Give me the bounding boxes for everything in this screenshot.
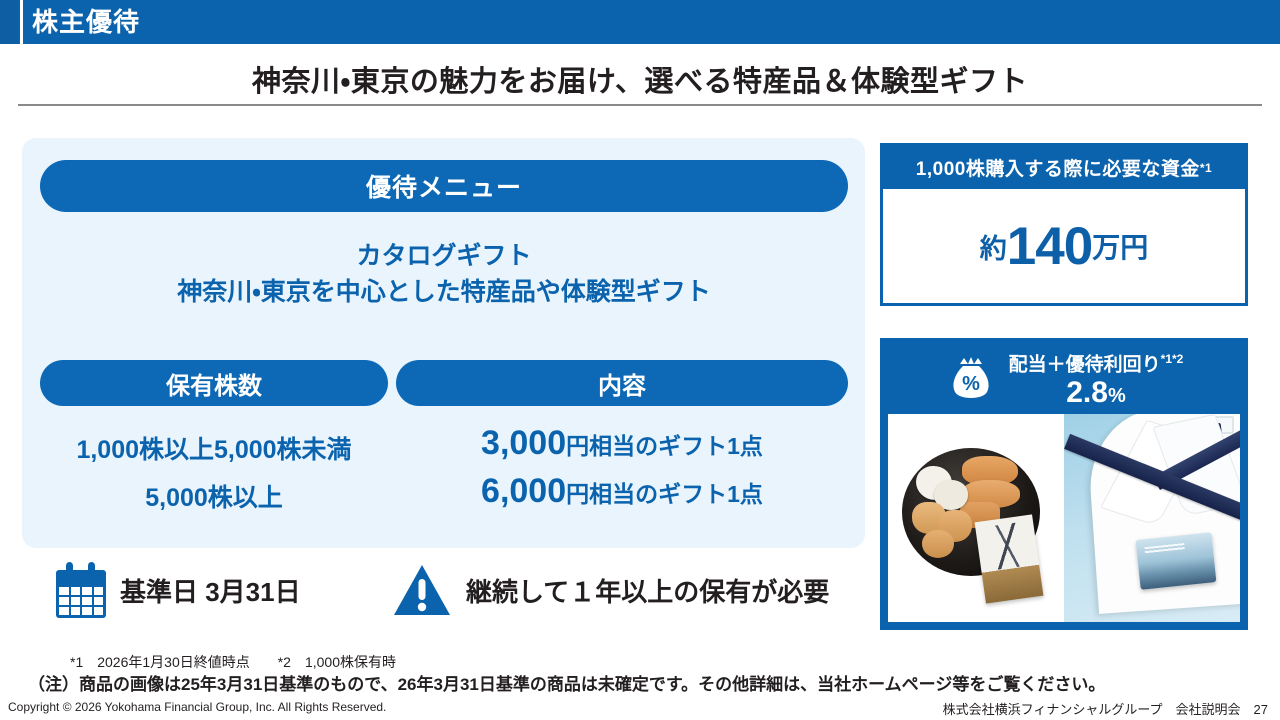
- required-funds-heading-label: 1,000株購入する際に必要な資金: [916, 154, 1200, 181]
- table-row: 1,000株以上5,000株未満: [40, 430, 388, 466]
- svg-text:%: %: [962, 373, 980, 395]
- table-row: 5,000株以上: [40, 478, 388, 514]
- catalog-line-1: カタログギフト: [40, 238, 848, 274]
- section-label: 株主優待: [32, 5, 140, 39]
- table-header-shares-label: 保有株数: [166, 366, 262, 401]
- table-header-content: 内容: [396, 360, 848, 406]
- table-header-content-label: 内容: [598, 366, 646, 401]
- dividend-yield-value: 2.8: [1066, 376, 1108, 409]
- gift-photos: [888, 414, 1240, 622]
- copyright-text: Copyright © 2026 Yokohama Financial Grou…: [8, 700, 386, 714]
- dividend-yield-header: % 配当＋優待利回り*1*2 2.8%: [888, 346, 1240, 414]
- dividend-yield-texts: 配当＋優待利回り*1*2 2.8%: [1009, 348, 1184, 411]
- calendar-icon: [56, 562, 106, 618]
- required-funds-prefix: 約: [980, 227, 1007, 266]
- header-bar: [0, 0, 1280, 44]
- title-divider: [18, 104, 1262, 106]
- benefit-menu-header-label: 優待メニュー: [366, 168, 522, 204]
- footnote-marks: *1 2026年1月30日終値時点 *2 1,000株保有時: [70, 652, 396, 672]
- required-funds-heading: 1,000株購入する際に必要な資金*1: [883, 146, 1245, 189]
- disclaimer-note: （注）商品の画像は25年3月31日基準のもので、26年3月31日基準の商品は未確…: [28, 670, 1105, 695]
- dividend-yield-unit: %: [1108, 385, 1126, 407]
- shares-value-row2: 5,000株以上: [145, 484, 283, 512]
- cracker: [922, 530, 954, 558]
- table-row: 3,000円相当のギフト1点: [396, 424, 848, 463]
- benefit-menu-header-pill: 優待メニュー: [40, 160, 848, 212]
- gift-card: [1136, 532, 1217, 590]
- header-accent-block: [0, 0, 18, 44]
- package-calligraphy: [985, 522, 1029, 571]
- snack-package: [975, 514, 1044, 603]
- dividend-yield-footnote-ref: *1*2: [1161, 352, 1184, 366]
- page-title: 神奈川・東京の魅力をお届け、選べる特産品＆体験型ギフト: [0, 58, 1280, 100]
- required-funds-value: 140: [1007, 216, 1092, 277]
- catalog-line-2: 神奈川・東京を中心とした特産品や体験型ギフト: [40, 274, 848, 310]
- required-funds-value-row: 約140万円: [883, 189, 1245, 303]
- calendar-grid: [56, 584, 106, 618]
- record-date-text: 基準日 3月31日: [120, 572, 301, 609]
- dividend-yield-label: 配当＋優待利回り: [1009, 355, 1161, 376]
- dividend-yield-label-row: 配当＋優待利回り*1*2: [1009, 348, 1184, 376]
- required-funds-unit: 万円: [1092, 226, 1148, 266]
- table-row: 6,000円相当のギフト1点: [396, 472, 848, 511]
- required-funds-card: 1,000株購入する際に必要な資金*1 約140万円: [880, 143, 1248, 306]
- conditions-row: 基準日 3月31日 継続して１年以上の保有が必要: [40, 558, 860, 642]
- dividend-yield-value-row: 2.8%: [1009, 377, 1184, 412]
- gift-amount-suffix-row1: 円相当のギフト1点: [566, 433, 763, 459]
- holding-period-text: 継続して１年以上の保有が必要: [466, 572, 829, 609]
- gift-amount-suffix-row2: 円相当のギフト1点: [566, 481, 763, 507]
- table-header-shares: 保有株数: [40, 360, 388, 406]
- senbei-rice-crackers-photo: [888, 414, 1064, 622]
- header-divider: [20, 0, 23, 44]
- required-funds-footnote-ref: *1: [1200, 161, 1212, 175]
- holding-period-note: 継続して１年以上の保有が必要: [392, 562, 829, 618]
- warning-icon: [392, 562, 452, 618]
- shares-value-row1: 1,000株以上5,000株未満: [76, 436, 351, 464]
- dress-shirt-gift-photo: [1064, 414, 1240, 622]
- catalog-description: カタログギフト 神奈川・東京を中心とした特産品や体験型ギフト: [40, 238, 848, 310]
- money-bag-percent-icon: %: [945, 354, 997, 406]
- gift-amount-row1: 3,000: [481, 424, 566, 462]
- record-date-note: 基準日 3月31日: [56, 562, 301, 618]
- page-footer-meta: 株式会社横浜フィナンシャルグループ 会社説明会 27: [943, 699, 1268, 718]
- gift-amount-row2: 6,000: [481, 472, 566, 510]
